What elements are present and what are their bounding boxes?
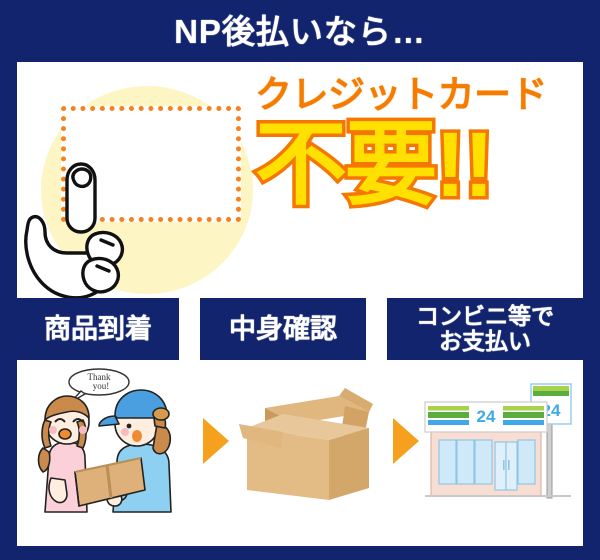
headline-credit-card: クレジットカード (255, 76, 583, 113)
content-panel: クレジットカード 不要!! 商品到着 中身確認 コンビニ等で お支払い (17, 62, 583, 546)
step-label-check-contents: 中身確認 (200, 298, 366, 360)
step-2-line-1: 中身確認 (229, 315, 337, 343)
hero-headline-group: クレジットカード 不要!! (255, 76, 583, 211)
step-label-product-arrival: 商品到着 (17, 298, 179, 360)
svg-text:you!: you! (93, 381, 110, 391)
right-arrow-icon-1 (203, 366, 231, 516)
right-arrow-icon-2 (393, 366, 421, 516)
step-1-line-1: 商品到着 (44, 315, 152, 343)
step-3-line-2: お支払い (439, 329, 531, 354)
open-cardboard-box-icon (233, 366, 391, 516)
step-3-line-1: コンビニ等で (416, 304, 554, 329)
illustration-strip: Thank you! (17, 366, 583, 516)
store-sign-text: 24 (477, 407, 496, 426)
step-label-pay-at-convenience-store: コンビニ等で お支払い (387, 298, 583, 360)
speech-bubble: Thank you! (69, 369, 129, 402)
convenience-store-icon: 24 24 (421, 366, 583, 516)
np-atobarai-banner: NP後払いなら… (0, 0, 600, 560)
header-title: NP後払いなら… (174, 15, 426, 48)
delivery-person-handing-parcel-icon: Thank you! (21, 366, 199, 516)
headline-not-required: 不要!! (255, 119, 583, 211)
step-labels: 商品到着 中身確認 コンビニ等で お支払い (17, 298, 583, 360)
pointing-hand-icon (17, 152, 169, 302)
banner-header: NP後払いなら… (0, 0, 600, 62)
hero-section: クレジットカード 不要!! (17, 62, 583, 290)
